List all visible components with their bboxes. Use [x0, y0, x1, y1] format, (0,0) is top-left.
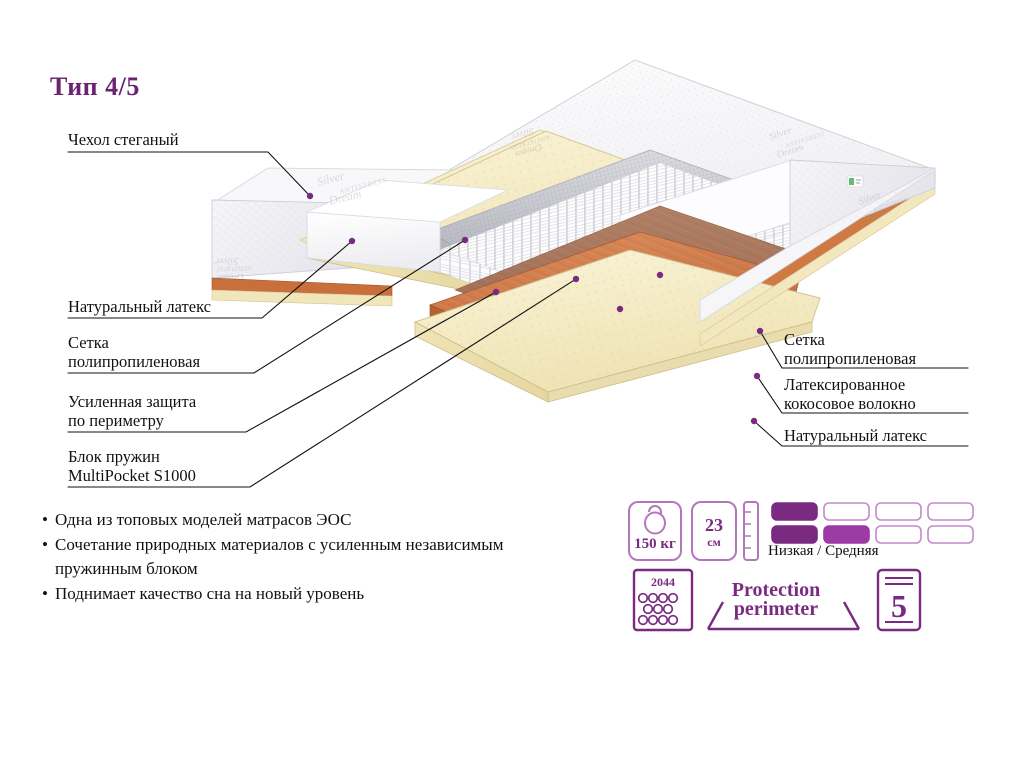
infographic-root: Тип 4/5 [0, 0, 1024, 758]
mattress-height-unit: см [707, 535, 721, 549]
zones-value: 5 [891, 588, 907, 624]
feature-bullet-list: • Одна из топовых моделей матрасов ЭОС •… [42, 508, 582, 607]
firmness-label: Низкая / Средняя [768, 543, 879, 560]
firmness-cell-empty [876, 526, 921, 543]
svg-text:ANTISTRESS: ANTISTRESS [216, 264, 253, 272]
protection-line2: perimeter [734, 598, 819, 620]
protection-perimeter-icon: Protection perimeter [708, 579, 859, 629]
firmness-cell-empty [928, 503, 973, 520]
bullet-marker: • [42, 533, 55, 581]
spring-count-value: 2044 [651, 575, 675, 589]
firmness-cell-empty [928, 526, 973, 543]
ruler-icon [744, 502, 758, 560]
svg-text:Dream: Dream [217, 271, 246, 283]
label-polypropylene-mesh-right: Сетка полипропиленовая [784, 330, 916, 368]
firmness-cell-filled [772, 526, 817, 543]
firmness-cell-empty [824, 503, 869, 520]
mattress-height-value: 23 [705, 515, 723, 535]
list-item-text: Поднимает качество сна на новый уровень [55, 582, 582, 606]
bullet-marker: • [42, 508, 55, 532]
max-weight-value: 150 кг [634, 536, 676, 552]
kettlebell-icon [645, 506, 665, 534]
list-item: • Поднимает качество сна на новый уровен… [42, 582, 582, 606]
list-item: • Сочетание природных материалов с усиле… [42, 533, 582, 581]
label-latexed-coir: Латексированное кокосовое волокно [784, 375, 916, 413]
bullet-marker: • [42, 582, 55, 606]
label-polypropylene-mesh-left: Сетка полипропиленовая [68, 333, 200, 371]
firmness-cell-filled [772, 503, 817, 520]
firmness-cell-filled [824, 526, 869, 543]
label-spring-block: Блок пружин MultiPocket S1000 [68, 447, 196, 485]
list-item-text: Одна из топовых моделей матрасов ЭОС [55, 508, 582, 532]
list-item: • Одна из топовых моделей матрасов ЭОС [42, 508, 582, 532]
label-natural-latex-right: Натуральный латекс [784, 426, 927, 445]
label-natural-latex-left: Натуральный латекс [68, 297, 211, 316]
firmness-cell-empty [876, 503, 921, 520]
care-label-icon [847, 176, 863, 187]
list-item-text: Сочетание природных материалов с усиленн… [55, 533, 582, 581]
spring-count-icon: 2044 [634, 570, 692, 630]
zones-icon: 5 [878, 570, 920, 630]
spec-icon-panel: 150 кг 23 см 2044 [626, 498, 988, 640]
label-quilted-cover: Чехол стеганый [68, 130, 179, 149]
label-reinforced-perimeter: Усиленная защита по периметру [68, 392, 196, 430]
firmness-indicator [772, 503, 973, 543]
